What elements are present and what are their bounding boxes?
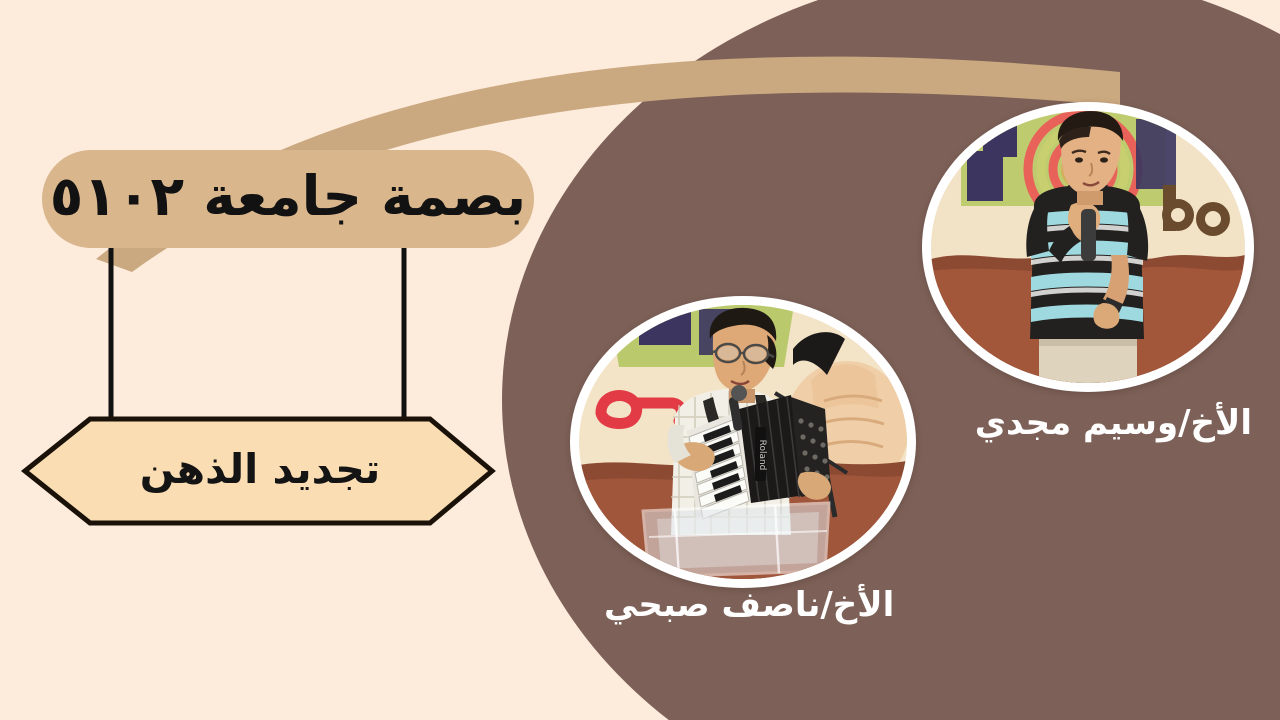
- speaker-photo-nassef-inner: Roland: [579, 305, 907, 579]
- speaker-photo-wasim-magdy: [922, 102, 1254, 392]
- photo-layer: Roland: [0, 0, 1280, 720]
- svg-text:Roland: Roland: [757, 440, 767, 471]
- slide-canvas: Roland: [0, 0, 1280, 720]
- speaker-photo-wasim-inner: [931, 111, 1245, 383]
- speaker-photo-wasim-artwork: [931, 111, 1245, 383]
- speaker-photo-nassef-sobhy: Roland: [570, 296, 916, 588]
- speaker-photo-nassef-artwork: Roland: [579, 305, 907, 579]
